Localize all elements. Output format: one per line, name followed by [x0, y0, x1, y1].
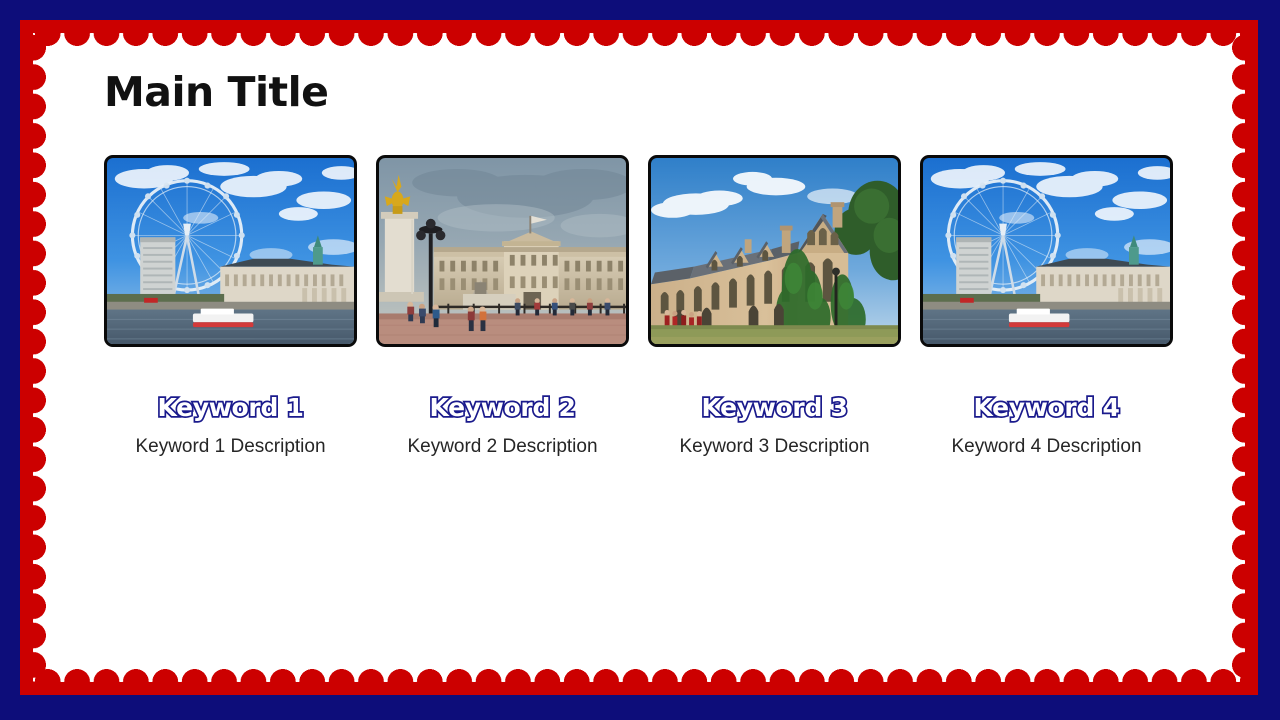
london-eye-thames-photo — [107, 158, 354, 344]
buckingham-palace-photo — [379, 158, 626, 344]
card-keyword: Keyword 2 — [376, 393, 629, 422]
card-item[interactable]: Keyword 1 Keyword 1 Description — [104, 155, 357, 458]
card-item[interactable]: Keyword 4 Keyword 4 Description — [920, 155, 1173, 458]
card-thumbnail-frame[interactable] — [104, 155, 357, 347]
slide-content: Main Title — [104, 70, 1174, 458]
card-keyword: Keyword 4 — [920, 393, 1173, 422]
card-description: Keyword 4 Description — [920, 436, 1173, 458]
card-description: Keyword 3 Description — [648, 436, 901, 458]
card-description: Keyword 1 Description — [104, 436, 357, 458]
card-keyword: Keyword 3 — [648, 393, 901, 422]
card-keyword: Keyword 1 — [104, 393, 357, 422]
card-item[interactable]: Keyword 3 Keyword 3 Description — [648, 155, 901, 458]
page-title: Main Title — [104, 70, 1174, 115]
slide-canvas: Main Title — [0, 0, 1280, 720]
card-thumbnail-frame[interactable] — [648, 155, 901, 347]
card-thumbnail-frame[interactable] — [376, 155, 629, 347]
card-description: Keyword 2 Description — [376, 436, 629, 458]
christ-church-oxford-photo — [651, 158, 898, 344]
card-item[interactable]: Keyword 2 Keyword 2 Description — [376, 155, 629, 458]
london-eye-thames-photo — [923, 158, 1170, 344]
card-thumbnail-frame[interactable] — [920, 155, 1173, 347]
card-row: Keyword 1 Keyword 1 Description — [104, 155, 1174, 458]
